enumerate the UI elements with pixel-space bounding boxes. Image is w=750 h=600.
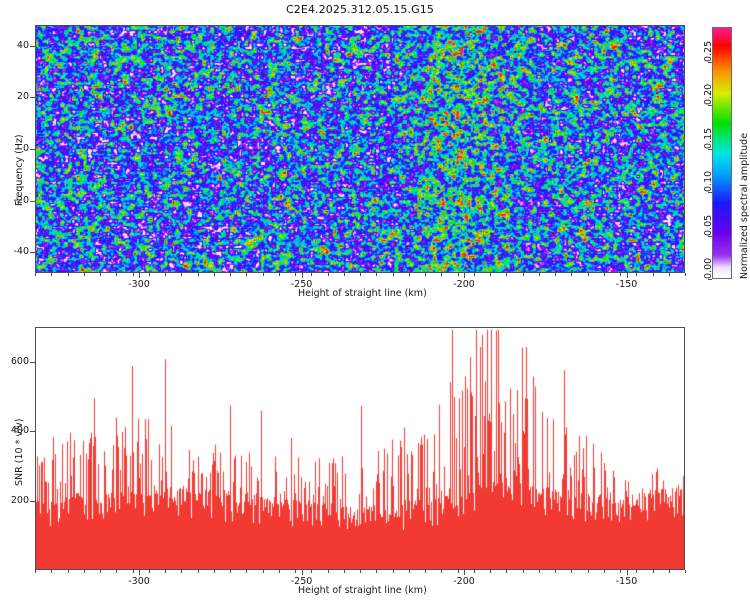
x-minor-tick (165, 273, 166, 276)
x-tick (302, 273, 303, 278)
x-tick (139, 273, 140, 278)
spectrogram-panel (35, 25, 685, 273)
x-tick-label: -300 (127, 576, 151, 587)
x-minor-tick (588, 570, 589, 573)
colorbar-tick-label: 0.10 (703, 171, 714, 192)
x-minor-tick (116, 570, 117, 573)
x-minor-tick (669, 570, 670, 573)
x-minor-tick (685, 570, 686, 573)
x-minor-tick (653, 273, 654, 276)
x-minor-tick (263, 273, 264, 276)
x-minor-tick (636, 570, 637, 573)
x-minor-tick (246, 273, 247, 276)
x-minor-tick (360, 273, 361, 276)
x-minor-tick (230, 273, 231, 276)
snr-x-axis-title: Height of straight line (km) (298, 585, 427, 596)
x-tick-label: -150 (615, 576, 639, 587)
colorbar-gradient (713, 28, 731, 278)
x-minor-tick (68, 570, 69, 573)
colorbar-tick (708, 105, 712, 106)
x-minor-tick (246, 570, 247, 573)
x-minor-tick (263, 570, 264, 573)
x-minor-tick (214, 570, 215, 573)
figure-root: C2E4.2025.312.05.15.G15 -300-250-200-150… (0, 0, 750, 600)
x-tick (464, 273, 465, 278)
y-tick (30, 97, 35, 98)
x-minor-tick (198, 273, 199, 276)
x-tick-label: -200 (452, 279, 476, 290)
colorbar-tick-label: 0.00 (703, 258, 714, 279)
y-tick (30, 201, 35, 202)
x-minor-tick (653, 570, 654, 573)
x-minor-tick (344, 570, 345, 573)
y-tick (30, 149, 35, 150)
x-minor-tick (523, 273, 524, 276)
x-tick-label: -300 (127, 279, 151, 290)
x-minor-tick (571, 570, 572, 573)
x-minor-tick (100, 273, 101, 276)
x-minor-tick (458, 570, 459, 573)
x-tick (464, 570, 465, 575)
x-minor-tick (84, 273, 85, 276)
x-minor-tick (149, 570, 150, 573)
x-minor-tick (604, 273, 605, 276)
x-minor-tick (51, 273, 52, 276)
x-tick (302, 570, 303, 575)
x-minor-tick (604, 570, 605, 573)
x-minor-tick (490, 570, 491, 573)
x-tick (139, 570, 140, 575)
x-minor-tick (181, 570, 182, 573)
x-minor-tick (214, 273, 215, 276)
x-minor-tick (133, 273, 134, 276)
colorbar-tick-label: 0.15 (703, 127, 714, 148)
x-tick-label: -150 (615, 279, 639, 290)
x-minor-tick (279, 570, 280, 573)
x-minor-tick (555, 570, 556, 573)
x-minor-tick (51, 570, 52, 573)
spectrogram-x-axis-title: Height of straight line (km) (298, 288, 427, 299)
x-minor-tick (588, 273, 589, 276)
x-minor-tick (393, 273, 394, 276)
x-tick (627, 273, 628, 278)
x-minor-tick (328, 273, 329, 276)
y-tick-label: 20 (1, 91, 29, 102)
x-minor-tick (328, 570, 329, 573)
x-minor-tick (636, 273, 637, 276)
x-minor-tick (555, 273, 556, 276)
y-tick-label: 600 (1, 356, 29, 367)
y-tick (30, 431, 35, 432)
x-minor-tick (376, 273, 377, 276)
x-tick-label: -200 (452, 576, 476, 587)
x-minor-tick (425, 273, 426, 276)
colorbar-tick-label: 0.25 (703, 41, 714, 62)
x-tick (627, 570, 628, 575)
x-minor-tick (620, 273, 621, 276)
x-minor-tick (409, 570, 410, 573)
colorbar-tick-label: 0.20 (703, 84, 714, 105)
colorbar-tick (708, 192, 712, 193)
x-minor-tick (198, 570, 199, 573)
y-tick-label: 200 (1, 495, 29, 506)
y-tick (30, 46, 35, 47)
x-minor-tick (523, 570, 524, 573)
x-minor-tick (393, 570, 394, 573)
x-minor-tick (685, 273, 686, 276)
x-minor-tick (279, 273, 280, 276)
x-minor-tick (311, 570, 312, 573)
x-minor-tick (539, 570, 540, 573)
colorbar-tick-label: 0.05 (703, 214, 714, 235)
x-minor-tick (68, 273, 69, 276)
x-minor-tick (35, 273, 36, 276)
x-minor-tick (35, 570, 36, 573)
x-minor-tick (181, 273, 182, 276)
x-minor-tick (669, 273, 670, 276)
x-minor-tick (376, 570, 377, 573)
x-minor-tick (506, 273, 507, 276)
snr-y-axis-title: SNR (10 * v/v) (14, 419, 25, 487)
y-tick (30, 252, 35, 253)
x-minor-tick (165, 570, 166, 573)
x-minor-tick (539, 273, 540, 276)
x-minor-tick (295, 570, 296, 573)
x-minor-tick (474, 570, 475, 573)
y-tick-label: -40 (1, 246, 29, 257)
x-minor-tick (230, 570, 231, 573)
x-minor-tick (571, 273, 572, 276)
figure-title: C2E4.2025.312.05.15.G15 (0, 3, 720, 16)
x-minor-tick (344, 273, 345, 276)
x-minor-tick (474, 273, 475, 276)
x-minor-tick (100, 570, 101, 573)
y-tick (30, 362, 35, 363)
colorbar-tick (708, 279, 712, 280)
x-minor-tick (506, 570, 507, 573)
spectrogram-y-axis-title: Frequency (Hz) (14, 134, 25, 206)
x-minor-tick (295, 273, 296, 276)
colorbar (712, 27, 732, 279)
x-minor-tick (360, 570, 361, 573)
x-minor-tick (149, 273, 150, 276)
spectrogram-image (35, 25, 685, 273)
y-tick (30, 501, 35, 502)
x-minor-tick (133, 570, 134, 573)
x-minor-tick (84, 570, 85, 573)
y-tick-label: 40 (1, 40, 29, 51)
x-minor-tick (441, 273, 442, 276)
x-minor-tick (311, 273, 312, 276)
x-minor-tick (116, 273, 117, 276)
colorbar-title: Normalized spectral amplitude (739, 133, 750, 279)
x-minor-tick (458, 273, 459, 276)
x-minor-tick (620, 570, 621, 573)
snr-panel (35, 327, 685, 570)
x-minor-tick (425, 570, 426, 573)
snr-plot-image (35, 327, 685, 570)
x-minor-tick (441, 570, 442, 573)
x-minor-tick (409, 273, 410, 276)
x-minor-tick (490, 273, 491, 276)
